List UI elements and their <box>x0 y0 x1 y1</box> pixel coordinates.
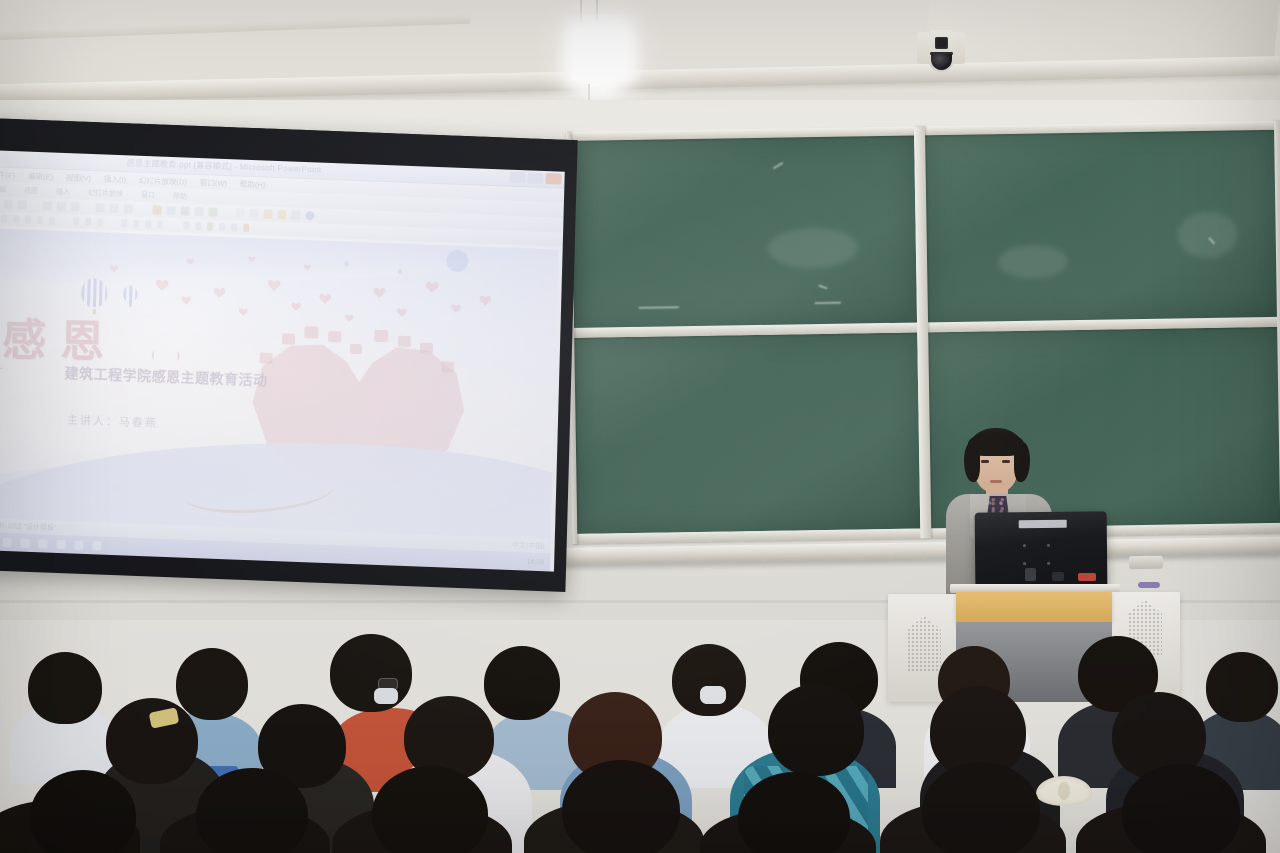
small-heart-icon <box>319 293 331 304</box>
audience-head <box>372 766 488 853</box>
small-heart-icon <box>397 308 407 317</box>
font-size-icon[interactable] <box>1 215 7 223</box>
audience-head <box>484 646 560 720</box>
taskbar-item-icon[interactable] <box>56 539 65 548</box>
redo-icon[interactable] <box>180 206 189 215</box>
help-icon[interactable] <box>305 211 314 220</box>
slide-circle-dot <box>398 270 402 274</box>
taskbar-item-icon[interactable] <box>92 541 101 550</box>
ceiling-slab <box>924 0 1280 60</box>
small-heart-icon <box>451 304 461 313</box>
small-heart-icon <box>345 314 354 322</box>
seated-student-audience <box>0 600 1280 853</box>
audience-head <box>562 760 680 853</box>
zoom-icon[interactable] <box>291 211 300 220</box>
taskbar-item-icon[interactable] <box>2 537 11 546</box>
presenter-eye-right <box>1002 460 1010 463</box>
menu-item-window[interactable]: 窗口(W) <box>200 177 227 189</box>
new-slide-icon[interactable] <box>263 209 272 218</box>
taskbar-item-icon[interactable] <box>38 539 47 548</box>
open-icon[interactable] <box>4 200 13 209</box>
slide-title-text: 感恩 <box>2 304 119 370</box>
desk-item-dark <box>1052 572 1064 581</box>
insert-chart-icon[interactable] <box>208 207 217 216</box>
audience-head <box>1206 652 1278 722</box>
desk-cup <box>1025 568 1036 581</box>
layout-icon[interactable] <box>231 223 237 231</box>
audience-head <box>176 648 248 720</box>
bow-center-knot <box>1058 782 1070 800</box>
audience-head <box>28 652 102 724</box>
align-left-icon[interactable] <box>73 217 79 225</box>
spellcheck-icon[interactable] <box>71 202 80 211</box>
small-heart-icon <box>479 295 491 306</box>
taskbar-item-icon[interactable] <box>20 538 29 547</box>
ceiling-security-camera-icon <box>917 32 965 72</box>
slide-circle-dot <box>344 262 349 267</box>
projection-screen: 感恩主题教育.ppt [兼容模式] - Microsoft PowerPoint… <box>0 118 578 592</box>
format-painter-icon[interactable] <box>152 205 161 214</box>
transition-icon[interactable] <box>219 223 225 231</box>
status-left-text: 幻灯片 1/12 "设计模板" <box>0 520 57 533</box>
face-mask-icon <box>700 686 726 704</box>
audience-head <box>196 768 308 853</box>
hyperlink-icon[interactable] <box>235 208 244 217</box>
taskbar-item-icon[interactable] <box>74 540 83 549</box>
small-heart-icon <box>181 295 191 304</box>
template-icon[interactable] <box>243 224 249 232</box>
monitor-label-strip <box>1019 520 1067 529</box>
status-right-text: 中文(中国) <box>512 540 545 551</box>
italic-icon[interactable] <box>25 216 31 224</box>
audience-head <box>30 770 136 853</box>
presenter-hair-right <box>1014 442 1030 482</box>
lamp-cord-secondary <box>580 0 582 30</box>
desk-item-red <box>1078 573 1096 581</box>
align-center-icon[interactable] <box>85 218 91 226</box>
toolbar-label-slideshow[interactable]: 幻灯片放映 <box>88 187 123 198</box>
small-heart-icon <box>373 287 385 298</box>
face-mask-icon <box>374 688 398 704</box>
audience-head <box>922 762 1040 853</box>
small-heart-icon <box>213 287 225 298</box>
green-chalkboard <box>566 121 1280 557</box>
demote-icon[interactable] <box>195 222 201 230</box>
decrease-font-icon[interactable] <box>157 220 163 228</box>
powerpoint-slide[interactable]: 感恩 建筑工程学院感恩主题教育活动 主讲人：马春燕 <box>0 228 559 539</box>
audience-head <box>106 698 198 784</box>
close-icon[interactable] <box>545 173 561 185</box>
toolbar-label-window[interactable]: 窗口 <box>141 189 155 200</box>
projected-desktop: 感恩主题教育.ppt [兼容模式] - Microsoft PowerPoint… <box>0 150 565 572</box>
menu-item-view[interactable]: 视图(V) <box>66 172 91 184</box>
window-buttons[interactable] <box>509 172 561 185</box>
taskbar-clock[interactable]: 14:08 <box>527 558 545 566</box>
board-eraser <box>1129 556 1163 570</box>
audience-head <box>330 634 412 712</box>
promote-icon[interactable] <box>183 221 189 229</box>
toolbar-label-insert[interactable]: 插入 <box>56 186 70 197</box>
fluorescent-ceiling-light-icon <box>570 28 628 90</box>
small-heart-icon <box>425 281 438 293</box>
audience-head <box>1122 764 1240 853</box>
cut-icon[interactable] <box>95 203 104 212</box>
bold-icon[interactable] <box>13 215 19 223</box>
bullets-icon[interactable] <box>121 219 127 227</box>
presenter-mouth <box>990 480 1002 483</box>
menu-item-edit[interactable]: 编辑(E) <box>28 170 53 182</box>
audience-head <box>738 772 850 853</box>
slide-presenter-text: 主讲人：马春燕 <box>67 411 158 430</box>
audience-head <box>672 644 746 716</box>
hot-air-balloon-icon <box>123 285 138 308</box>
copy-icon[interactable] <box>109 204 118 213</box>
align-right-icon[interactable] <box>97 218 103 226</box>
shadow-icon[interactable] <box>49 216 55 224</box>
toolbar-label-edit[interactable]: 编辑 <box>0 184 6 195</box>
slide-circle-dot <box>446 249 469 272</box>
menu-item-help[interactable]: 帮助(H) <box>240 178 266 190</box>
preview-icon[interactable] <box>57 202 66 211</box>
audience-head <box>768 684 864 776</box>
save-icon[interactable] <box>18 200 27 209</box>
insert-table-icon[interactable] <box>194 207 203 216</box>
presenter-eye-left <box>981 460 989 463</box>
menu-item-insert[interactable]: 插入(I) <box>104 173 126 185</box>
paste-icon[interactable] <box>123 204 132 213</box>
underline-icon[interactable] <box>37 216 43 224</box>
numbering-icon[interactable] <box>133 220 139 228</box>
desk-item-purple <box>1138 582 1160 588</box>
menu-item-slideshow[interactable]: 幻灯片放映(D) <box>139 174 187 187</box>
increase-font-icon[interactable] <box>145 220 151 228</box>
lecture-hall-photo: 感恩主题教育.ppt [兼容模式] - Microsoft PowerPoint… <box>0 0 1280 853</box>
insert-picture-icon[interactable] <box>249 209 258 218</box>
design-icon[interactable] <box>277 210 286 219</box>
presenter-hair-left <box>964 442 980 482</box>
animation-icon[interactable] <box>207 222 213 230</box>
toolbar-label-view[interactable]: 视图 <box>24 185 38 196</box>
undo-icon[interactable] <box>166 206 175 215</box>
menu-item-file[interactable]: 文件(F) <box>0 169 15 181</box>
small-heart-icon <box>291 302 301 311</box>
toolbar-label-help[interactable]: 帮助 <box>173 191 187 202</box>
minimize-icon[interactable] <box>509 172 525 184</box>
print-icon[interactable] <box>43 201 52 210</box>
small-heart-icon <box>239 308 248 316</box>
maximize-icon[interactable] <box>527 172 543 184</box>
